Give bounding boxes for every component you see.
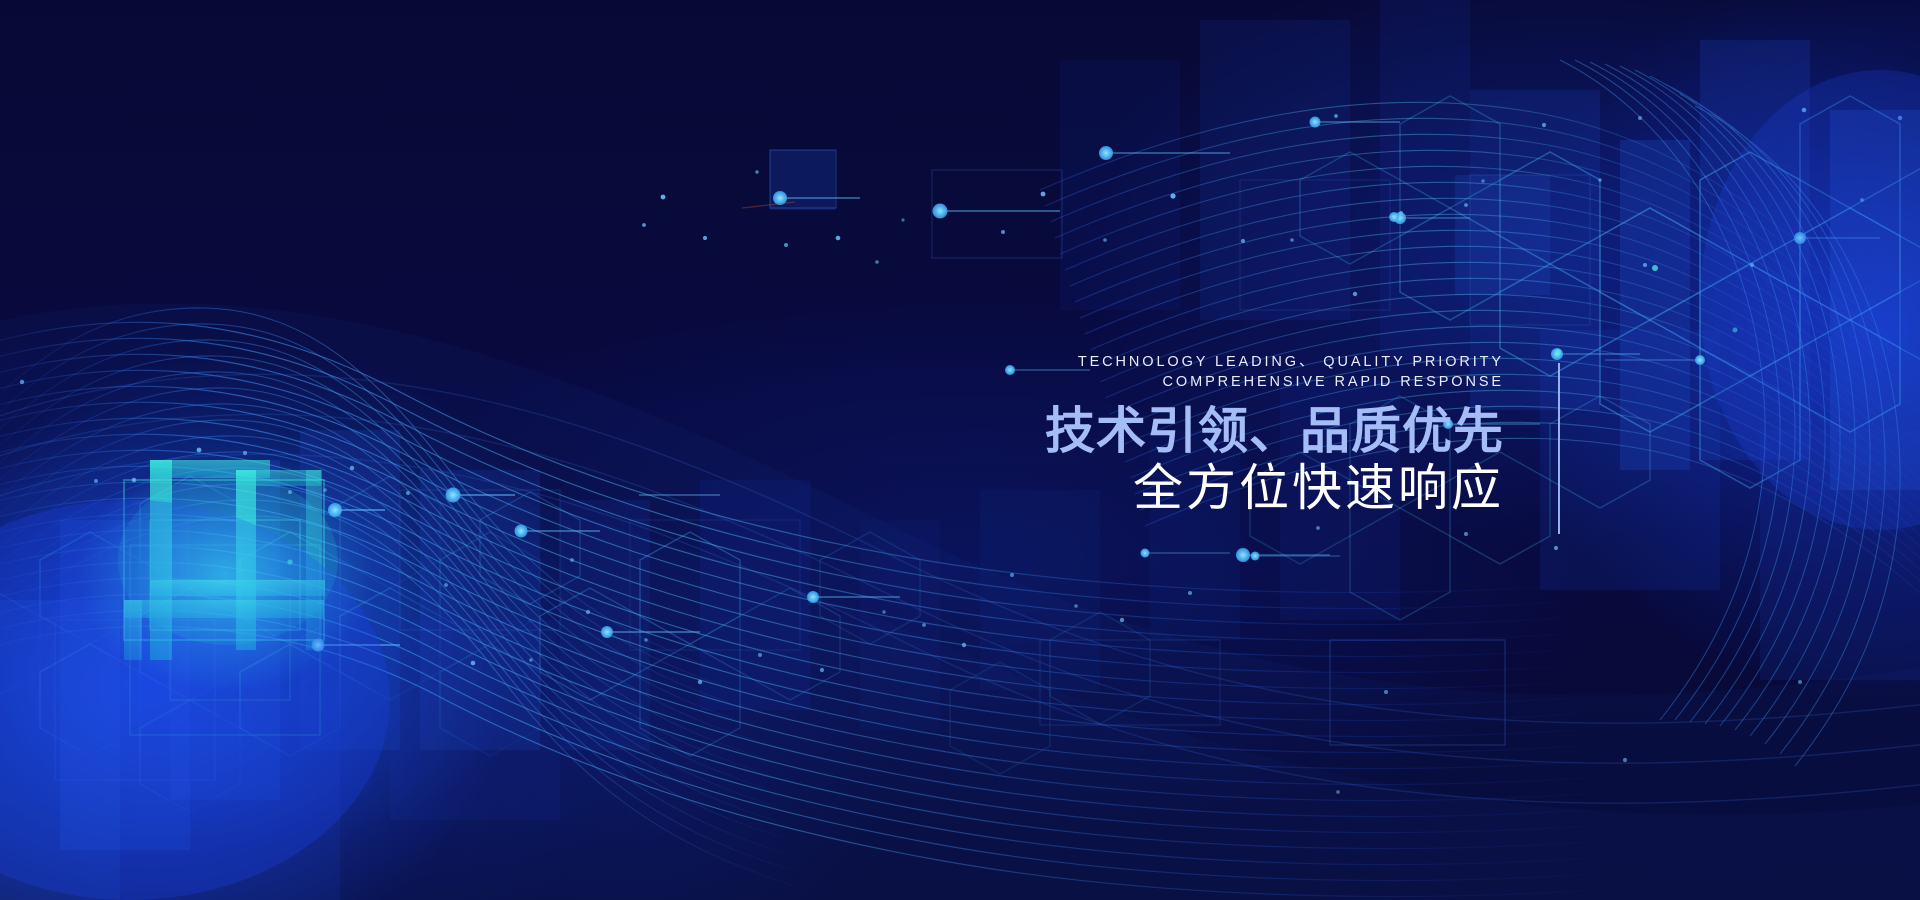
hero-text-block: TECHNOLOGY LEADING、 QUALITY PRIORITY COM… [900,352,1504,516]
headline-primary: 技术引领、品质优先 [900,403,1504,459]
headline-secondary: 全方位快速响应 [900,460,1504,516]
text-divider-rule [1558,363,1560,534]
hero-banner: TECHNOLOGY LEADING、 QUALITY PRIORITY COM… [0,0,1920,900]
eyebrow-line-1: TECHNOLOGY LEADING、 QUALITY PRIORITY [900,352,1504,372]
eyebrow-line-2: COMPREHENSIVE RAPID RESPONSE [900,372,1504,392]
